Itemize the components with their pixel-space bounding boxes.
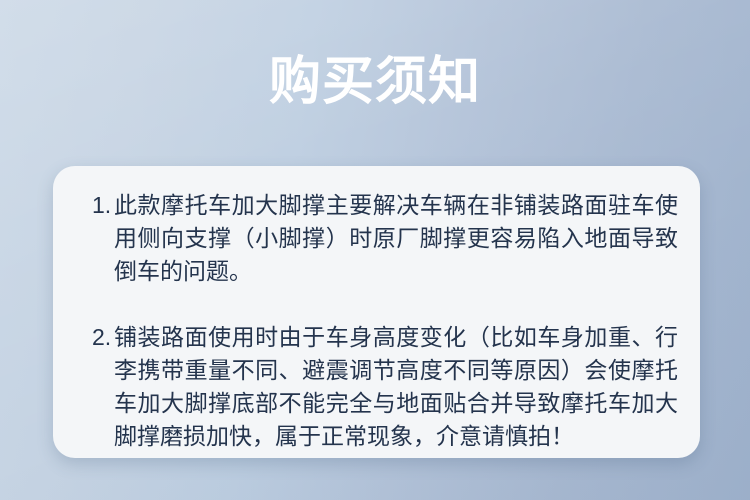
notice-card: 1. 此款摩托车加大脚撑主要解决车辆在非铺装路面驻车使用侧向支撑（小脚撑）时原厂… (53, 166, 700, 458)
list-item-marker: 1. (92, 189, 114, 222)
promo-notice-banner: 购买须知 1. 此款摩托车加大脚撑主要解决车辆在非铺装路面驻车使用侧向支撑（小脚… (0, 0, 750, 500)
list-item-text: 铺装路面使用时由于车身高度变化（比如车身加重、行李携带重量不同、避震调节高度不同… (114, 321, 678, 453)
list-item-marker: 2. (92, 321, 114, 354)
notice-list: 1. 此款摩托车加大脚撑主要解决车辆在非铺装路面驻车使用侧向支撑（小脚撑）时原厂… (92, 189, 678, 453)
list-item: 1. 此款摩托车加大脚撑主要解决车辆在非铺装路面驻车使用侧向支撑（小脚撑）时原厂… (92, 189, 678, 288)
list-item-text: 此款摩托车加大脚撑主要解决车辆在非铺装路面驻车使用侧向支撑（小脚撑）时原厂脚撑更… (114, 189, 678, 288)
list-item: 2. 铺装路面使用时由于车身高度变化（比如车身加重、行李携带重量不同、避震调节高… (92, 321, 678, 453)
page-title: 购买须知 (0, 51, 750, 113)
